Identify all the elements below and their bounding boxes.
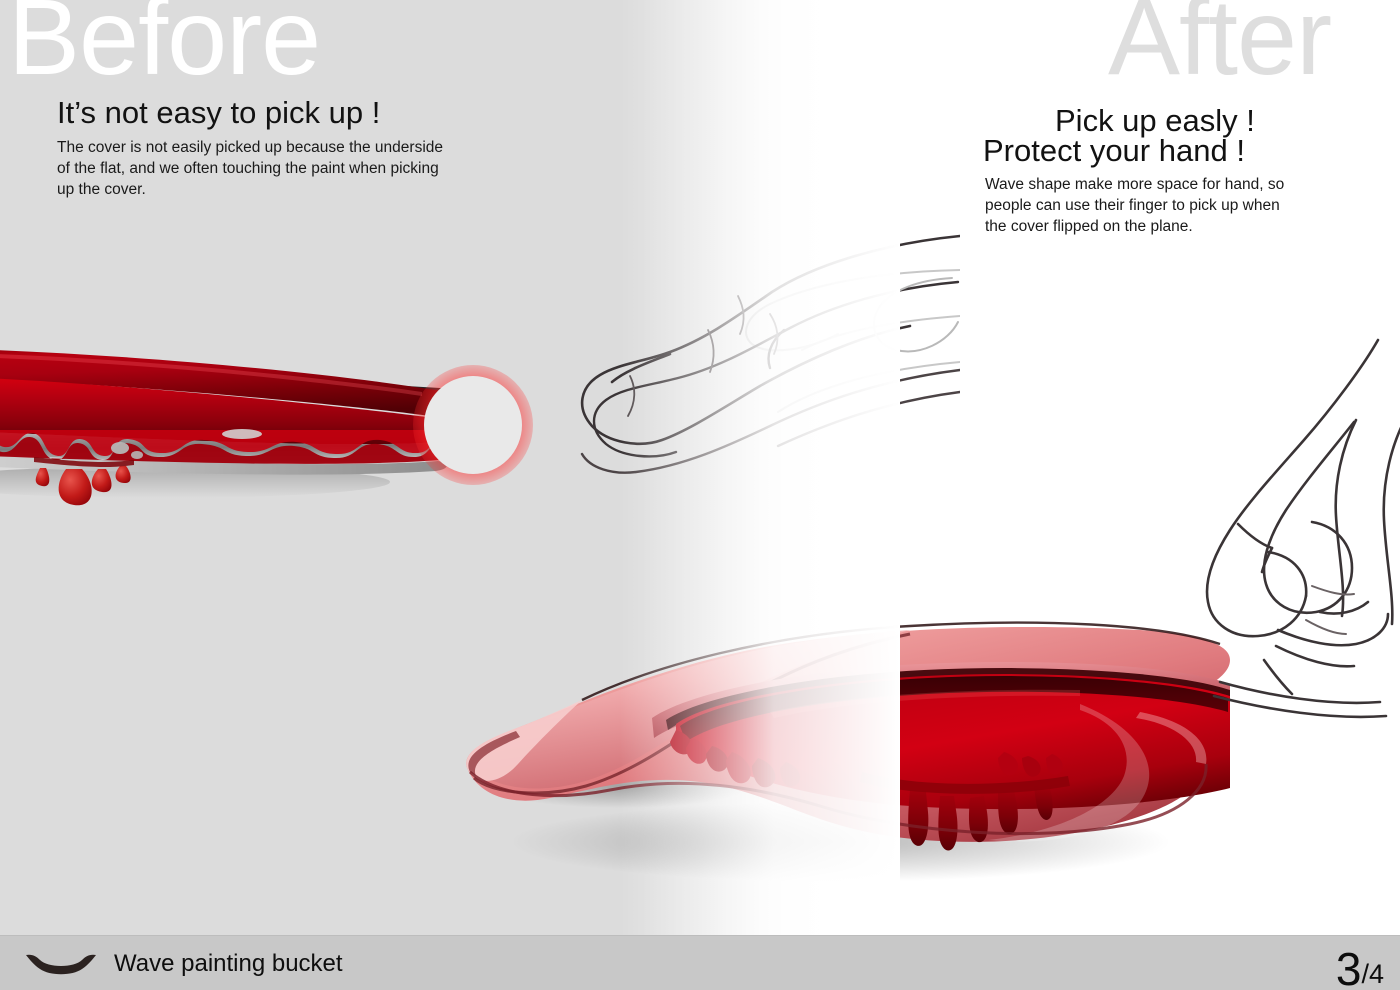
fingers-reaching-sketch [440,230,960,510]
right-headline-line-2: Protect your hand ! [983,134,1245,167]
wave-bucket-logo [22,948,100,980]
left-headline: It’s not easy to pick up ! [57,96,380,129]
ghost-title-after: After [1108,0,1331,89]
page-current: 3 [1336,943,1362,990]
page-number: 3/4 [1336,942,1384,990]
page-total: /4 [1361,959,1384,989]
ghost-title-before: Before [8,0,320,89]
project-title: Wave painting bucket [114,950,343,978]
footer-bar: Wave painting bucket 3/4 [0,935,1400,990]
hand-gripping-sketch [1080,330,1400,850]
left-body-text: The cover is not easily picked up becaus… [57,137,447,200]
presentation-board: Before After It’s not easy to pick up ! … [0,0,1400,990]
right-body-text: Wave shape make more space for hand, so … [985,174,1295,237]
